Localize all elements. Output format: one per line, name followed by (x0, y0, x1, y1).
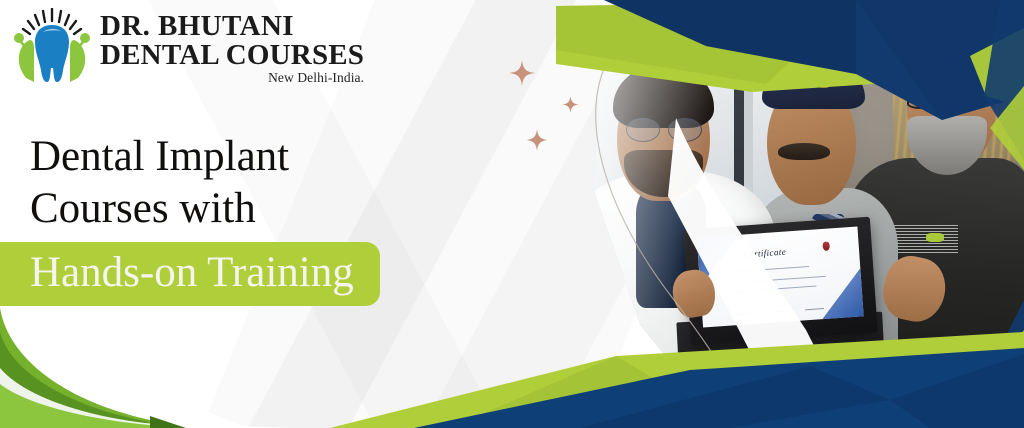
headline-block: Dental Implant Courses with Hands-on Tra… (0, 131, 470, 306)
sparkle-icon (526, 129, 548, 151)
certificate-signature-line (735, 312, 754, 314)
person-center-cap-badge (816, 68, 832, 88)
tooth-with-hands-logo-icon (10, 8, 94, 88)
bottom-left-green-wave (0, 298, 290, 428)
sparkle-icon (509, 60, 535, 86)
certificate-seal (823, 241, 831, 250)
brand-logo[interactable]: DR. BHUTANI DENTAL COURSES New Delhi-Ind… (10, 8, 364, 88)
photo-scene: Certificate (556, 0, 1024, 428)
person-right-glasses (907, 86, 968, 109)
person-left-glasses (668, 118, 702, 142)
certificate-signature-line (805, 307, 824, 309)
person-left-glasses (626, 118, 660, 142)
certificate-paper: Certificate (697, 226, 864, 327)
brand-logo-text: DR. BHUTANI DENTAL COURSES New Delhi-Ind… (100, 12, 364, 84)
certificate-frame: Certificate (683, 216, 878, 344)
promotional-banner: Certificate (0, 0, 1024, 428)
certificate-title: Certificate (743, 246, 786, 259)
brand-name-line-2: DENTAL COURSES (100, 41, 364, 70)
headline-highlight: Hands-on Training (0, 242, 380, 306)
headline-line-1: Dental Implant (0, 131, 470, 183)
certificate-text-line (736, 285, 816, 292)
brand-tagline: New Delhi-India. (100, 71, 364, 84)
headline-line-2: Courses with (0, 183, 470, 235)
person-center-moustache (778, 143, 829, 160)
certificate-signature-line (770, 310, 789, 312)
sparkle-icon (562, 96, 579, 113)
certificate-text-line (736, 276, 826, 283)
certificate-text-line (735, 266, 809, 272)
person-right-shirt-logo-accent (926, 233, 945, 242)
hero-photo: Certificate (556, 0, 1024, 428)
brand-name-line-1: DR. BHUTANI (100, 12, 364, 41)
